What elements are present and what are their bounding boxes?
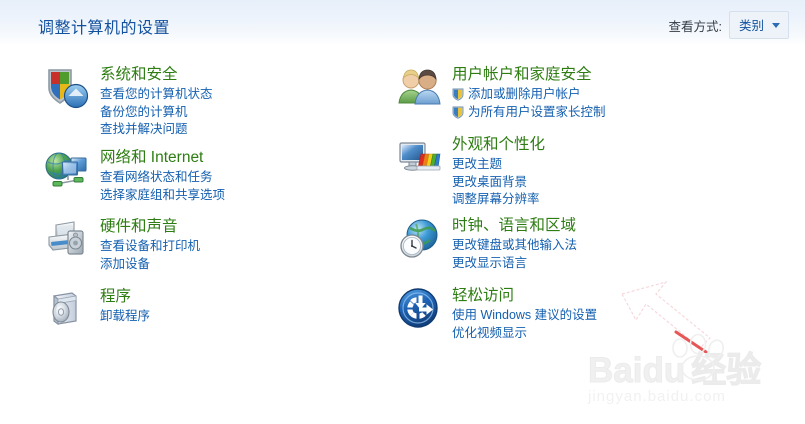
category-link[interactable]: 查看设备和打印机 xyxy=(100,238,200,256)
category-link[interactable]: 查找并解决问题 xyxy=(100,121,213,139)
link-label: 优化视频显示 xyxy=(452,325,527,343)
link-label: 查看您的计算机状态 xyxy=(100,86,213,104)
category-link[interactable]: 查看网络状态和任务 xyxy=(100,169,225,187)
category-link[interactable]: 更改键盘或其他输入法 xyxy=(452,237,577,255)
category-title: 网络和 Internet xyxy=(100,148,225,167)
control-panel-page: 调整计算机的设置 查看方式: 类别 xyxy=(0,0,805,424)
link-label: 添加设备 xyxy=(100,256,150,274)
category-text: 外观和个性化 更改主题 更改桌面背景 调整屏幕分辨率 xyxy=(452,134,545,209)
category-text: 程序 卸载程序 xyxy=(100,286,150,333)
watermark-brand: Baidu经验 xyxy=(588,352,803,390)
category-link[interactable]: 查看您的计算机状态 xyxy=(100,86,213,104)
category-text: 用户帐户和家庭安全 添加或删除用户帐户 xyxy=(452,64,606,121)
link-label: 查找并解决问题 xyxy=(100,121,188,139)
link-label: 备份您的计算机 xyxy=(100,104,188,122)
category-system-and-security[interactable]: 系统和安全 查看您的计算机状态 备份您的计算机 查找并解决问题 xyxy=(44,64,213,139)
category-text: 轻松访问 使用 Windows 建议的设置 优化视频显示 xyxy=(452,285,597,342)
category-link[interactable]: 调整屏幕分辨率 xyxy=(452,191,545,209)
ease-of-access-icon xyxy=(396,286,442,332)
link-label: 卸载程序 xyxy=(100,308,150,326)
category-link[interactable]: 更改主题 xyxy=(452,156,545,174)
globe-monitor-icon xyxy=(44,148,90,194)
category-link[interactable]: 备份您的计算机 xyxy=(100,104,213,122)
category-link[interactable]: 为所有用户设置家长控制 xyxy=(452,104,606,122)
shield-icon xyxy=(44,65,90,111)
category-programs[interactable]: 程序 卸载程序 xyxy=(44,286,150,333)
link-label: 查看设备和打印机 xyxy=(100,238,200,256)
category-clock-language-and-region[interactable]: 时钟、语言和区域 更改键盘或其他输入法 更改显示语言 xyxy=(396,215,577,272)
programs-disc-icon xyxy=(44,287,90,333)
category-link[interactable]: 更改桌面背景 xyxy=(452,174,545,192)
category-text: 系统和安全 查看您的计算机状态 备份您的计算机 查找并解决问题 xyxy=(100,64,213,139)
watermark-brand-prefix: Bai xyxy=(588,351,642,390)
view-by-dropdown[interactable]: 类别 xyxy=(729,11,789,39)
link-label: 添加或删除用户帐户 xyxy=(468,86,581,104)
category-link[interactable]: 使用 Windows 建议的设置 xyxy=(452,307,597,325)
chevron-down-icon xyxy=(772,23,780,28)
link-label: 查看网络状态和任务 xyxy=(100,169,213,187)
category-title: 轻松访问 xyxy=(452,286,597,305)
link-label: 调整屏幕分辨率 xyxy=(452,191,540,209)
link-label: 为所有用户设置家长控制 xyxy=(468,104,606,122)
link-label: 更改主题 xyxy=(452,156,502,174)
link-label: 更改显示语言 xyxy=(452,255,527,273)
category-text: 硬件和声音 查看设备和打印机 添加设备 xyxy=(100,216,200,273)
cursor-arrow-annotation-icon xyxy=(614,276,804,371)
category-title: 程序 xyxy=(100,287,150,306)
category-hardware-and-sound[interactable]: 硬件和声音 查看设备和打印机 添加设备 xyxy=(44,216,200,273)
baidu-watermark: Baidu经验 jingyan.baidu.com xyxy=(588,352,803,422)
watermark-brand-suffix: du xyxy=(642,351,685,390)
link-label: 选择家庭组和共享选项 xyxy=(100,187,225,205)
view-by-value: 类别 xyxy=(739,15,764,34)
view-by-label: 查看方式: xyxy=(669,16,722,35)
category-user-accounts-and-family-safety[interactable]: 用户帐户和家庭安全 添加或删除用户帐户 xyxy=(396,64,606,121)
category-appearance-and-personalization[interactable]: 外观和个性化 更改主题 更改桌面背景 调整屏幕分辨率 xyxy=(396,134,545,209)
link-label: 更改桌面背景 xyxy=(452,174,527,192)
category-link[interactable]: 优化视频显示 xyxy=(452,325,597,343)
category-link[interactable]: 卸载程序 xyxy=(100,308,150,326)
printer-speaker-icon xyxy=(44,217,90,263)
globe-clock-icon xyxy=(396,216,442,262)
watermark-url: jingyan.baidu.com xyxy=(588,388,803,405)
uac-shield-icon xyxy=(452,88,464,101)
category-title: 硬件和声音 xyxy=(100,217,200,236)
category-network-and-internet[interactable]: 网络和 Internet 查看网络状态和任务 选择家庭组和共享选项 xyxy=(44,147,225,204)
link-label: 更改键盘或其他输入法 xyxy=(452,237,577,255)
monitor-palette-icon xyxy=(396,135,442,181)
page-title: 调整计算机的设置 xyxy=(38,14,170,38)
category-link[interactable]: 更改显示语言 xyxy=(452,255,577,273)
users-icon xyxy=(396,65,442,111)
category-link[interactable]: 添加或删除用户帐户 xyxy=(452,86,606,104)
category-link[interactable]: 选择家庭组和共享选项 xyxy=(100,187,225,205)
link-label: 使用 Windows 建议的设置 xyxy=(452,307,597,325)
category-link[interactable]: 添加设备 xyxy=(100,256,200,274)
category-title: 外观和个性化 xyxy=(452,135,545,154)
view-by-control: 查看方式: 类别 xyxy=(669,11,790,39)
uac-shield-icon xyxy=(452,106,464,119)
category-title: 时钟、语言和区域 xyxy=(452,216,577,235)
category-text: 时钟、语言和区域 更改键盘或其他输入法 更改显示语言 xyxy=(452,215,577,272)
category-text: 网络和 Internet 查看网络状态和任务 选择家庭组和共享选项 xyxy=(100,147,225,204)
category-ease-of-access[interactable]: 轻松访问 使用 Windows 建议的设置 优化视频显示 xyxy=(396,285,597,342)
category-title: 系统和安全 xyxy=(100,65,213,84)
watermark-brand-cn: 经验 xyxy=(691,351,761,390)
category-title: 用户帐户和家庭安全 xyxy=(452,65,606,84)
